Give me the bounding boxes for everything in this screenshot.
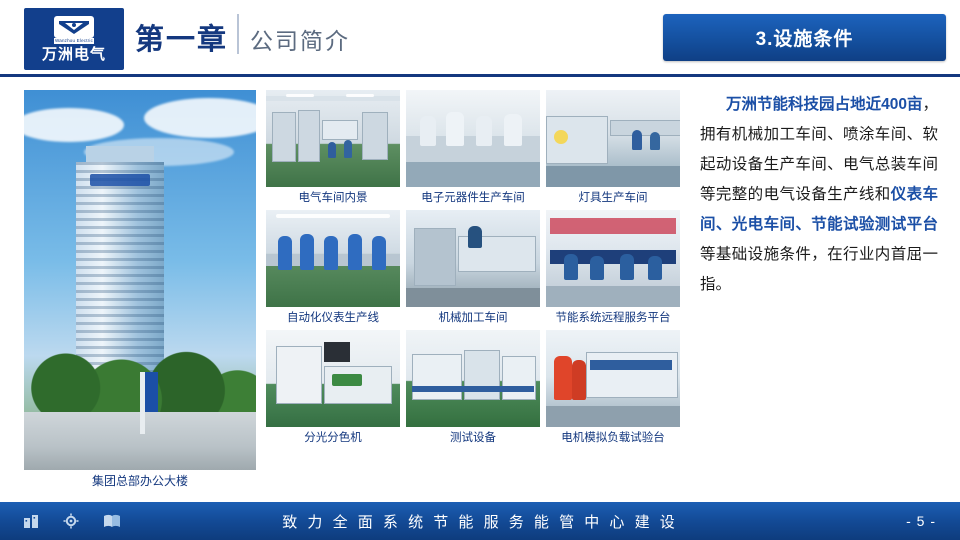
photo-caption: 灯具生产车间 — [546, 187, 680, 206]
photo-cell: 灯具生产车间 — [546, 90, 680, 206]
logo-cn-text: 万洲电气 — [42, 47, 106, 63]
section-tab[interactable]: 3.设施条件 — [663, 14, 946, 61]
photo-caption: 电机模拟负载试验台 — [546, 427, 680, 446]
lamp-production-workshop-photo — [546, 90, 680, 187]
body-text-a: 万洲节能科技园 — [726, 96, 835, 113]
electronic-components-workshop-photo — [406, 90, 540, 187]
photo-grid-row: 电气车间内景 电子元器件生产车间 — [266, 90, 684, 206]
photo-grid-row: 自动化仪表生产线 机械加工车间 — [266, 210, 684, 326]
photo-caption: 自动化仪表生产线 — [266, 307, 400, 326]
electrical-workshop-photo — [266, 90, 400, 187]
slide: Wanzhou Electric 万洲电气 第一章 公司简介 3.设施条件 集团… — [0, 0, 960, 540]
photo-cell: 电气车间内景 — [266, 90, 400, 206]
motor-load-test-bench-photo — [546, 330, 680, 427]
automatic-instrument-line-photo — [266, 210, 400, 307]
chapter-subtitle: 公司简介 — [250, 22, 350, 56]
section-tab-label: 3.设施条件 — [756, 24, 854, 51]
header-rule — [0, 74, 960, 77]
body-text-d: 等完整的电气设备生产线和 — [700, 186, 891, 203]
photo-grid-row: 分光分色机 测试设备 — [266, 330, 684, 446]
photo-caption: 分光分色机 — [266, 427, 400, 446]
remote-service-platform-photo — [546, 210, 680, 307]
logo-en-text: Wanzhou Electric — [54, 38, 94, 44]
photo-caption: 电子元器件生产车间 — [406, 187, 540, 206]
machining-workshop-photo — [406, 210, 540, 307]
photo-cell: 机械加工车间 — [406, 210, 540, 326]
photo-caption: 节能系统远程服务平台 — [546, 307, 680, 326]
photo-grid: 电气车间内景 电子元器件生产车间 — [266, 90, 684, 450]
photo-caption: 电气车间内景 — [266, 187, 400, 206]
body-text-f: 等基础设施条件，在行业内首屈一指。 — [700, 246, 938, 293]
testing-equipment-photo — [406, 330, 540, 427]
footer-slogan: 致 力 全 面 系 统 节 能 服 务 能 管 中 心 建 设 — [0, 511, 960, 532]
body-text-b: 占地近400亩 — [835, 96, 923, 113]
photo-cell: 节能系统远程服务平台 — [546, 210, 680, 326]
photo-caption: 机械加工车间 — [406, 307, 540, 326]
photo-caption: 测试设备 — [406, 427, 540, 446]
footer-bar: 致 力 全 面 系 统 节 能 服 务 能 管 中 心 建 设 - 5 - — [0, 502, 960, 540]
page-number: - 5 - — [906, 513, 936, 529]
photo-cell: 测试设备 — [406, 330, 540, 446]
main-photo-caption: 集团总部办公大楼 — [24, 472, 256, 489]
photo-cell: 自动化仪表生产线 — [266, 210, 400, 326]
w-emblem-icon — [54, 16, 94, 38]
spectrophotometric-machine-photo — [266, 330, 400, 427]
chapter-title: 第一章 — [135, 16, 228, 58]
office-tower-photo — [24, 90, 256, 470]
company-logo: Wanzhou Electric 万洲电气 — [24, 8, 124, 70]
header-divider — [237, 14, 239, 54]
photo-cell: 电机模拟负载试验台 — [546, 330, 680, 446]
photo-cell: 分光分色机 — [266, 330, 400, 446]
photo-cell: 电子元器件生产车间 — [406, 90, 540, 206]
body-text: 万洲节能科技园占地近400亩，拥有机械加工车间、喷涂车间、软起动设备生产车间、电… — [700, 90, 938, 480]
